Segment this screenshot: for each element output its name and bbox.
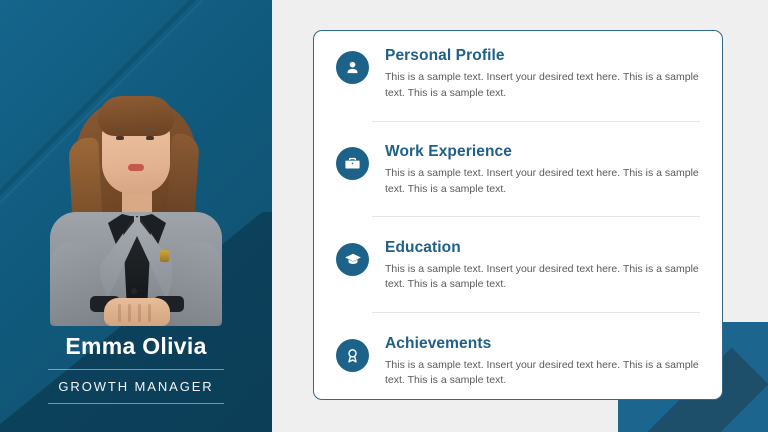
section-title: Education xyxy=(385,239,700,257)
photo-hands xyxy=(104,298,170,326)
profile-panel: Emma Olivia GROWTH MANAGER xyxy=(0,0,272,432)
section-description: This is a sample text. Insert your desir… xyxy=(385,358,700,389)
person-icon xyxy=(336,51,369,84)
person-role: GROWTH MANAGER xyxy=(0,370,272,403)
section-title: Work Experience xyxy=(385,143,700,161)
section-work-experience[interactable]: Work Experience This is a sample text. I… xyxy=(332,141,700,197)
section-achievements[interactable]: Achievements This is a sample text. Inse… xyxy=(332,333,700,389)
divider-below-role xyxy=(48,403,224,404)
section-body: Education This is a sample text. Insert … xyxy=(385,239,700,293)
photo-lips xyxy=(128,164,144,171)
award-ribbon-icon xyxy=(336,339,369,372)
resume-slide: Emma Olivia GROWTH MANAGER Personal Prof… xyxy=(0,0,768,432)
photo-arm-left xyxy=(50,242,100,326)
photo-arm-right xyxy=(172,242,222,326)
person-name: Emma Olivia xyxy=(0,334,272,359)
section-divider xyxy=(372,216,700,217)
photo-finger xyxy=(128,304,131,322)
section-description: This is a sample text. Insert your desir… xyxy=(385,70,700,101)
photo-eye-left xyxy=(116,136,124,140)
section-personal-profile[interactable]: Personal Profile This is a sample text. … xyxy=(332,45,700,101)
photo-finger xyxy=(148,304,151,322)
photo-fringe xyxy=(98,96,174,136)
photo-eye-right xyxy=(146,136,154,140)
photo-lapel-pin xyxy=(160,250,169,262)
section-title: Achievements xyxy=(385,335,700,353)
graduation-cap-icon xyxy=(336,243,369,276)
photo-finger xyxy=(138,304,141,322)
section-body: Achievements This is a sample text. Inse… xyxy=(385,335,700,389)
section-title: Personal Profile xyxy=(385,47,700,65)
section-body: Work Experience This is a sample text. I… xyxy=(385,143,700,197)
identity-block: Emma Olivia GROWTH MANAGER xyxy=(0,334,272,404)
sections-card: Personal Profile This is a sample text. … xyxy=(313,30,723,400)
photo-finger xyxy=(118,304,121,322)
section-description: This is a sample text. Insert your desir… xyxy=(385,166,700,197)
profile-photo xyxy=(42,74,230,326)
section-education[interactable]: Education This is a sample text. Insert … xyxy=(332,237,700,293)
section-body: Personal Profile This is a sample text. … xyxy=(385,47,700,101)
briefcase-icon xyxy=(336,147,369,180)
photo-jacket-button xyxy=(131,288,137,294)
section-divider xyxy=(372,121,700,122)
section-divider xyxy=(372,312,700,313)
section-description: This is a sample text. Insert your desir… xyxy=(385,262,700,293)
